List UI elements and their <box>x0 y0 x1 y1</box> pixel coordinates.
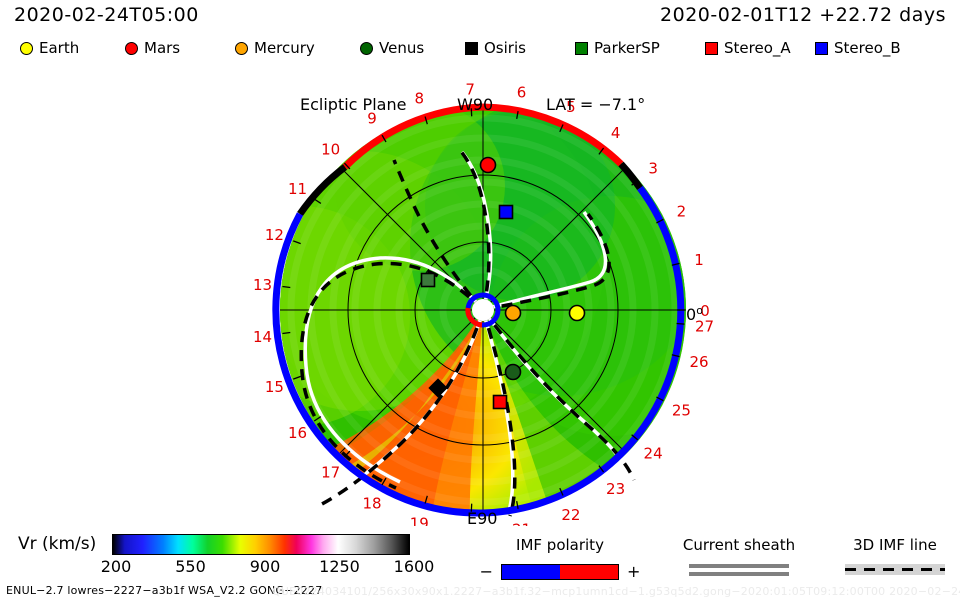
imf-polarity-legend: IMF polarity − + <box>470 536 650 580</box>
sun-marker <box>472 299 494 321</box>
stereo_a-marker <box>494 396 507 409</box>
carrington-tick-label: 11 <box>288 180 307 198</box>
legend-label: Venus <box>379 41 424 56</box>
polar-plot-svg: 0123456789101112131415161718192021222324… <box>0 66 960 526</box>
imf-3d-line-legend: 3D IMF line <box>830 536 960 575</box>
carrington-tick-label: 16 <box>288 424 307 442</box>
w90-label: W90 <box>457 95 493 114</box>
carrington-tick-label: 24 <box>644 445 663 463</box>
ecliptic-plane-plot: 0123456789101112131415161718192021222324… <box>0 66 960 526</box>
imf-3d-line-swatch <box>845 564 945 575</box>
colorbar-tick: 200 <box>101 557 132 576</box>
carrington-tick-label: 1 <box>694 251 704 269</box>
legend-label: Stereo_B <box>834 41 901 56</box>
legend-label: Earth <box>39 41 79 56</box>
carrington-tick-label: 12 <box>265 226 284 244</box>
legend-label: ParkerSP <box>594 41 660 56</box>
carrington-tick-label: 14 <box>253 328 272 346</box>
carrington-tick-label: 13 <box>253 276 272 294</box>
imf-3d-dash <box>845 568 945 571</box>
carrington-tick-label: 27 <box>695 318 714 336</box>
carrington-tick-label: 21 <box>512 521 531 526</box>
mars-marker-icon <box>125 42 138 55</box>
latitude-label: LAT = −7.1° <box>546 95 645 114</box>
legend-label: Osiris <box>484 41 526 56</box>
colorbar-tick: 900 <box>250 557 281 576</box>
mercury-marker <box>506 306 521 321</box>
carrington-tick-label: 19 <box>410 515 429 526</box>
carrington-tick-label: 18 <box>362 494 381 512</box>
imf-polarity-title: IMF polarity <box>470 536 650 554</box>
legend-item-mars: Mars <box>125 41 180 56</box>
body-legend: EarthMarsMercuryVenusOsirisParkerSPStere… <box>10 36 950 60</box>
imf-negative-swatch <box>502 565 560 579</box>
carrington-tick-label: 26 <box>689 353 708 371</box>
stereo_a-marker-icon <box>705 42 718 55</box>
carrington-tick-label: 6 <box>517 83 527 101</box>
e90-label: E90 <box>467 509 497 526</box>
colorbar-tick: 1600 <box>394 557 435 576</box>
venus-marker-icon <box>360 42 373 55</box>
legend-item-mercury: Mercury <box>235 41 315 56</box>
venus-marker <box>506 365 521 380</box>
imf-positive-sign: + <box>627 564 640 580</box>
colorbar-tick: 550 <box>175 557 206 576</box>
carrington-tick-label: 23 <box>606 480 625 498</box>
carrington-tick-label: 17 <box>321 464 340 482</box>
carrington-tick-label: 25 <box>672 402 691 420</box>
current-sheath-bar-bottom <box>689 572 789 576</box>
colorbar-tick-labels: 20055090012501600 <box>100 557 430 577</box>
earth-marker-icon <box>20 42 33 55</box>
current-sheath-legend: Current sheath <box>664 536 814 576</box>
imf-positive-swatch <box>560 565 618 579</box>
legend-item-parkersp: ParkerSP <box>575 41 660 56</box>
colorbar-tick: 1250 <box>319 557 360 576</box>
current-sheath-bar-top <box>689 564 789 568</box>
carrington-tick-label: 4 <box>611 124 621 142</box>
legend-item-earth: Earth <box>20 41 79 56</box>
current-sheath-title: Current sheath <box>664 536 814 554</box>
osiris-marker-icon <box>465 42 478 55</box>
imf-polarity-bar <box>501 564 619 580</box>
colorbar-gradient <box>112 534 410 555</box>
legend-item-osiris: Osiris <box>465 41 526 56</box>
earth-marker <box>570 306 585 321</box>
carrington-tick-label: 22 <box>561 506 580 524</box>
legend-label: Mercury <box>254 41 315 56</box>
legend-item-venus: Venus <box>360 41 424 56</box>
run-id-watermark: QUE0224034101/256x30x90x1.2227−a3b1f.32−… <box>272 585 960 598</box>
run-start-offset-label: 2020-02-01T12 +22.72 days <box>660 4 946 26</box>
carrington-tick-label: 3 <box>648 159 658 177</box>
carrington-tick-label: 8 <box>415 89 425 107</box>
tick-mark <box>677 324 685 325</box>
valid-time-label: 2020-02-24T05:00 <box>14 4 199 26</box>
carrington-tick-label: 2 <box>677 202 687 220</box>
plot-title: Ecliptic Plane <box>300 95 406 114</box>
mars-marker <box>481 158 496 173</box>
legend-item-stereo_b: Stereo_B <box>815 41 901 56</box>
legend-label: Mars <box>144 41 180 56</box>
mercury-marker-icon <box>235 42 248 55</box>
imf-3d-line-title: 3D IMF line <box>830 536 960 554</box>
parkersp-marker-icon <box>575 42 588 55</box>
carrington-tick-label: 10 <box>321 141 340 159</box>
legend-item-stereo_a: Stereo_A <box>705 41 791 56</box>
imf-negative-sign: − <box>480 564 493 580</box>
colorbar-title: Vr (km/s) <box>18 534 96 554</box>
carrington-tick-label: 15 <box>265 378 284 396</box>
legend-label: Stereo_A <box>724 41 791 56</box>
parkersp-marker <box>422 274 435 287</box>
stereo_b-marker-icon <box>815 42 828 55</box>
stereo_b-marker <box>500 206 513 219</box>
